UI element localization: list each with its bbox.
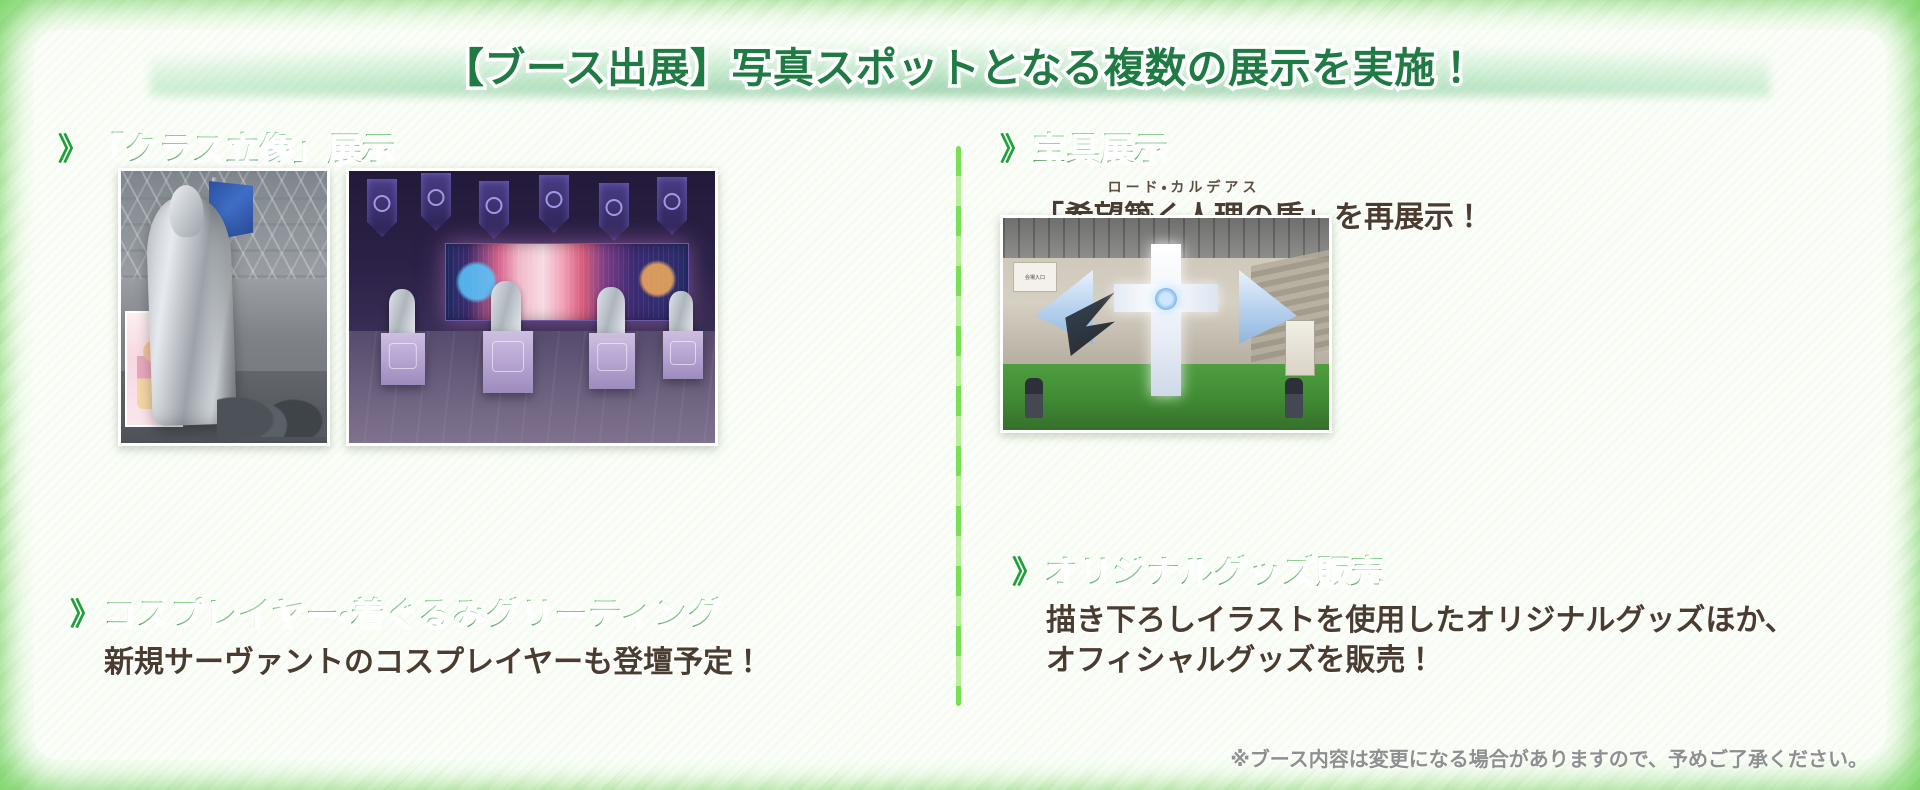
statue-podium [663, 331, 703, 379]
shield-cross-object [1114, 244, 1218, 396]
section-heading-label: 「クラス立像」展示 [90, 130, 395, 170]
photo-class-statue-hall [118, 168, 330, 446]
venue-entrance-sign: 会場入口 [1013, 262, 1057, 292]
promo-banner: 【ブース出展】写真スポットとなる複数の展示を実施！ 》 「クラス立像」展示 [0, 0, 1920, 790]
statue-podium [589, 333, 635, 389]
original-goods-block: 》 オリジナルグッズ販売 描き下ろしイラストを使用したオリジナルグッズほか、 オ… [1012, 553, 1795, 680]
page-title: 【ブース出展】写真スポットとなる複数の展示を実施！ [443, 34, 1477, 94]
stage-led-screen [445, 243, 689, 321]
cosplayer-greeting-detail: 新規サーヴァントのコスプレイヤーも登壇予定！ [104, 643, 763, 683]
class-statue-photo-group [118, 168, 718, 446]
section-heading-cosplayer-greeting: 》 コスプレイヤー・着ぐるみグリーティング [70, 595, 763, 635]
ruby-reading: ロード・カルデアス [1108, 178, 1261, 196]
cosplayer-greeting-block: 》 コスプレイヤー・着ぐるみグリーティング 新規サーヴァントのコスプレイヤーも登… [70, 595, 763, 683]
chevron-double-right-icon: 》 [70, 597, 98, 634]
left-column: 》 「クラス立像」展示 [58, 130, 938, 170]
original-goods-detail-line2: オフィシャルグッズを販売！ [1046, 641, 1795, 681]
shield-core-gem [1155, 288, 1177, 310]
section-heading-class-statues: 》 「クラス立像」展示 [58, 130, 938, 170]
photo-stage-led-screen [346, 168, 718, 446]
section-heading-label: 宝具展示 [1032, 130, 1168, 170]
section-heading-label: オリジナルグッズ販売 [1044, 553, 1384, 593]
section-heading-label: コスプレイヤー・着ぐるみグリーティング [102, 595, 722, 635]
chevron-double-right-icon: 》 [1000, 132, 1028, 169]
statue-podium [381, 333, 425, 385]
section-heading-noble-phantasm: 》 宝具展示 [1000, 130, 1860, 170]
venue-visitor [1285, 378, 1303, 418]
banner-title-band: 【ブース出展】写真スポットとなる複数の展示を実施！ [0, 30, 1920, 98]
info-standee [1285, 320, 1315, 376]
disclaimer-footnote: ※ブース内容は変更になる場合がありますので、予めご了承ください。 [1230, 743, 1868, 772]
chevron-double-right-icon: 》 [58, 132, 86, 169]
section-heading-original-goods: 》 オリジナルグッズ販売 [1012, 553, 1795, 593]
statue-podium [483, 331, 533, 393]
column-divider [956, 146, 961, 706]
hall-visitors [217, 365, 329, 437]
chevron-double-right-icon: 》 [1012, 555, 1040, 592]
original-goods-detail-line1: 描き下ろしイラストを使用したオリジナルグッズほか、 [1046, 601, 1795, 641]
venue-visitor [1025, 378, 1043, 418]
photo-noble-phantasm-shield: 会場入口 [1000, 215, 1332, 433]
